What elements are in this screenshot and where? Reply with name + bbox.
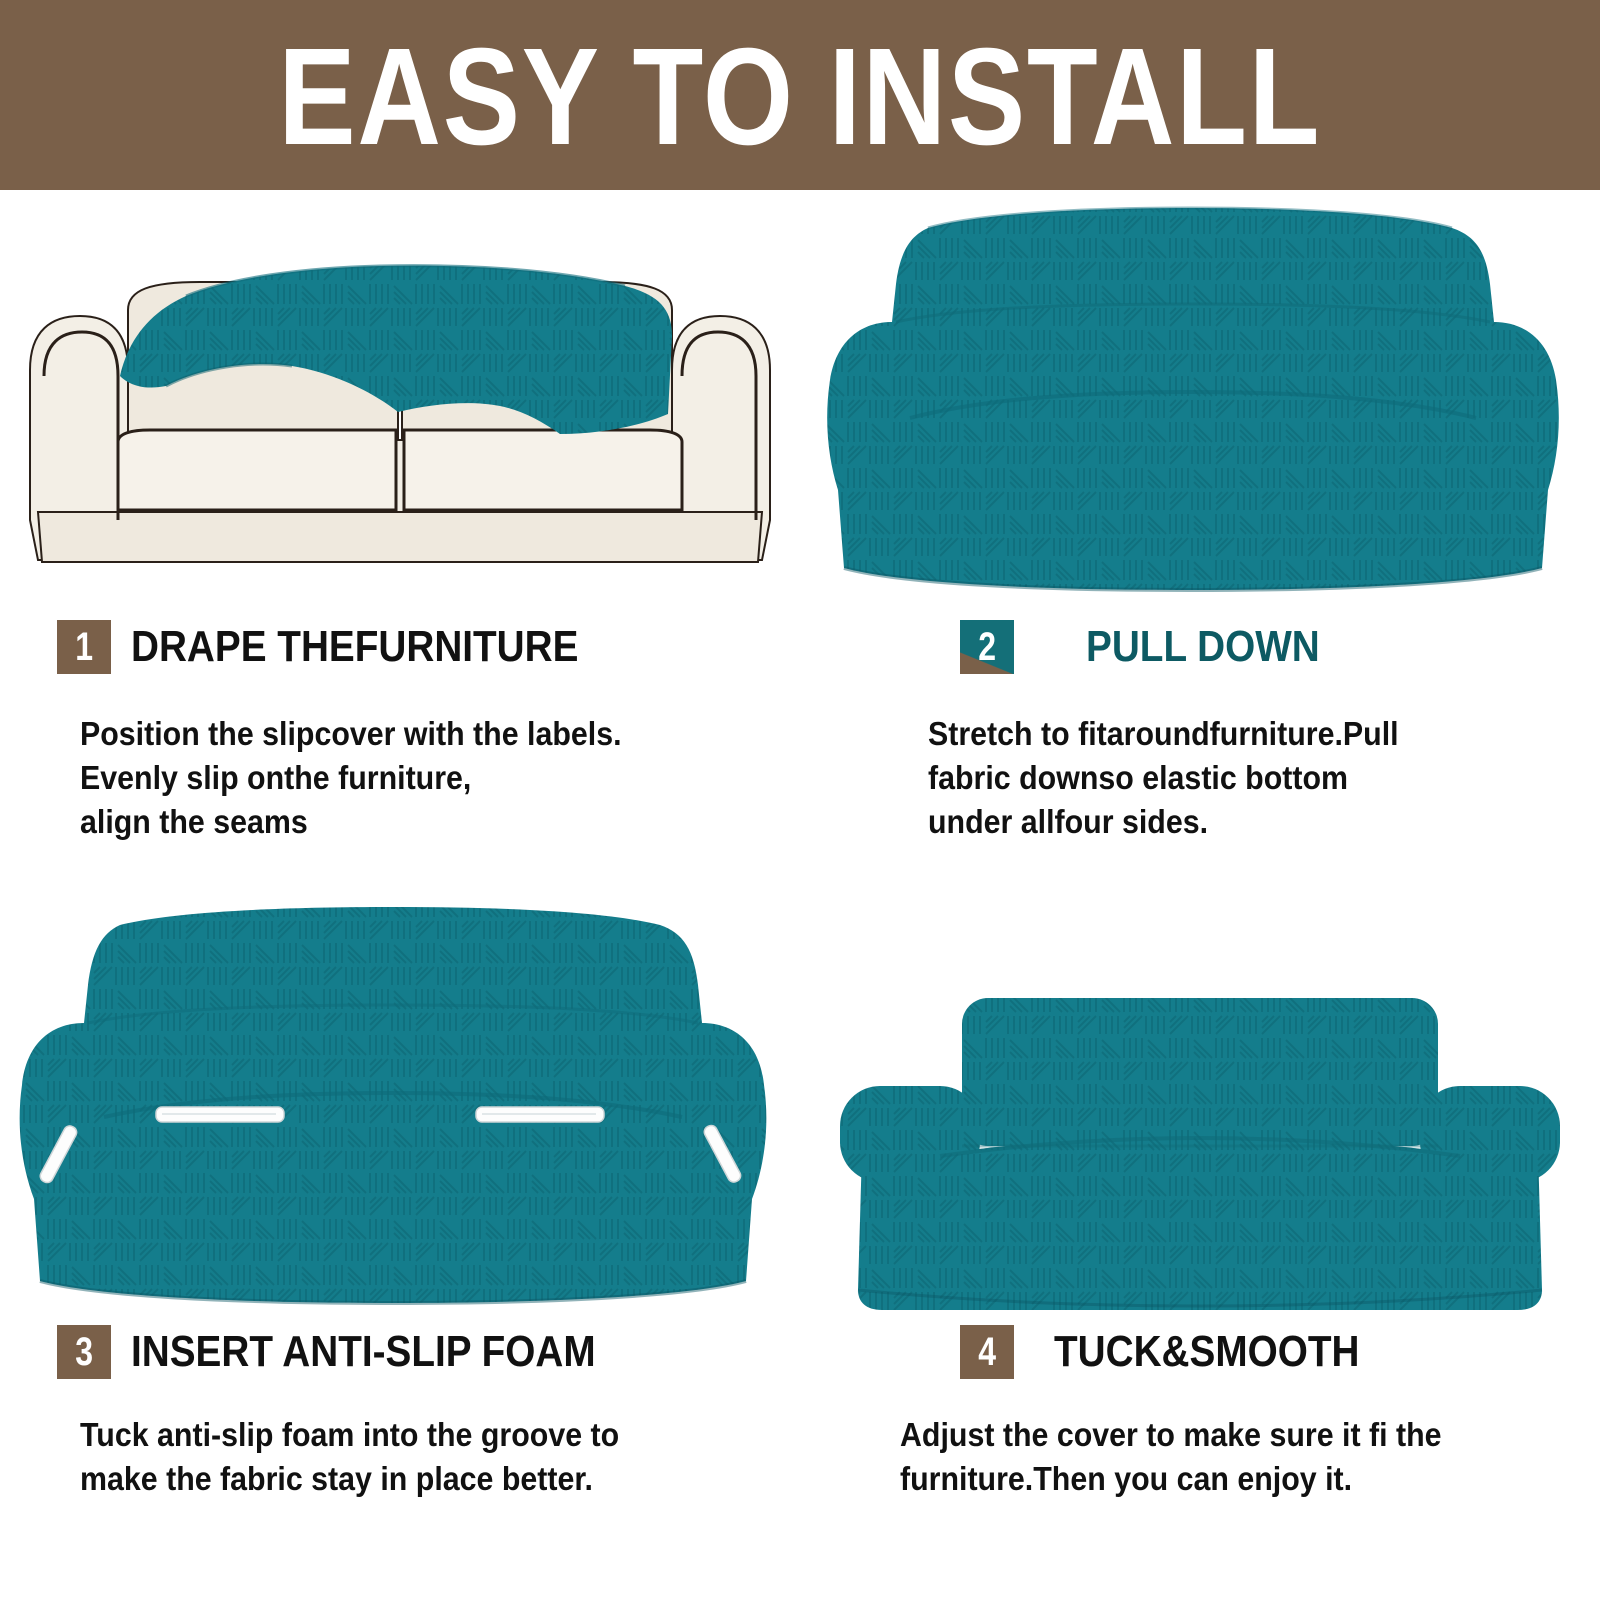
- sofa-tucked-illustration: [800, 990, 1600, 1320]
- install-instructions-page: EASY TO INSTALL: [0, 0, 1600, 1600]
- backrest: [962, 998, 1438, 1146]
- step-2-illustration: [800, 190, 1600, 610]
- step-2-badge: 2: [960, 620, 1014, 674]
- step-3-number: 3: [75, 1330, 93, 1375]
- step-4-badge: 4: [960, 1325, 1014, 1379]
- header-banner: EASY TO INSTALL: [0, 0, 1600, 190]
- foam-strip-right-inner: [476, 1107, 604, 1122]
- sofa-covered-illustration: [800, 190, 1600, 610]
- step-1-caption: 1 DRAPE THEFURNITURE Position the slipco…: [0, 620, 800, 844]
- sofa-cover-body: [827, 208, 1559, 590]
- sofa-cover-body: [20, 907, 767, 1303]
- sofa-draped-illustration: [0, 190, 800, 610]
- step-1-number: 1: [75, 625, 93, 670]
- step-2-heading: 2 PULL DOWN: [960, 620, 1600, 674]
- step-1-body: Position the slipcover with the labels. …: [80, 712, 742, 844]
- page-title: EASY TO INSTALL: [279, 28, 1322, 166]
- step-3-title: INSERT ANTI-SLIP FOAM: [131, 1330, 596, 1374]
- step-2-caption: 2 PULL DOWN Stretch to fitaroundfurnitur…: [800, 620, 1600, 844]
- step-1-badge: 1: [57, 620, 111, 674]
- step-card-2: 2 PULL DOWN Stretch to fitaroundfurnitur…: [800, 190, 1600, 895]
- step-4-caption: 4 TUCK&SMOOTH Adjust the cover to make s…: [800, 1325, 1600, 1501]
- step-1-illustration: [0, 190, 800, 610]
- seat-cushion-left: [118, 430, 396, 510]
- step-4-heading: 4 TUCK&SMOOTH: [960, 1325, 1600, 1379]
- step-2-body: Stretch to fitaroundfurniture.Pull fabri…: [928, 712, 1546, 844]
- step-3-illustration: [0, 895, 800, 1315]
- seat-cushion-right: [404, 430, 682, 510]
- step-2-title: PULL DOWN: [1086, 625, 1320, 669]
- step-1-title: DRAPE THEFURNITURE: [131, 625, 578, 669]
- step-4-number: 4: [978, 1330, 996, 1375]
- step-4-body: Adjust the cover to make sure it fi the …: [900, 1413, 1544, 1501]
- step-card-4: 4 TUCK&SMOOTH Adjust the cover to make s…: [800, 895, 1600, 1600]
- step-3-badge: 3: [57, 1325, 111, 1379]
- step-3-body: Tuck anti-slip foam into the groove to m…: [80, 1413, 742, 1501]
- steps-grid: 1 DRAPE THEFURNITURE Position the slipco…: [0, 190, 1600, 1600]
- step-2-number: 2: [978, 625, 996, 670]
- step-1-heading: 1 DRAPE THEFURNITURE: [57, 620, 800, 674]
- sofa-foam-illustration: [0, 895, 800, 1315]
- foam-strip-left-inner: [156, 1107, 284, 1122]
- step-card-3: 3 INSERT ANTI-SLIP FOAM Tuck anti-slip f…: [0, 895, 800, 1600]
- step-3-caption: 3 INSERT ANTI-SLIP FOAM Tuck anti-slip f…: [0, 1325, 800, 1501]
- step-card-1: 1 DRAPE THEFURNITURE Position the slipco…: [0, 190, 800, 895]
- step-3-heading: 3 INSERT ANTI-SLIP FOAM: [57, 1325, 800, 1379]
- sofa-skirt: [38, 512, 762, 562]
- step-4-title: TUCK&SMOOTH: [1054, 1330, 1359, 1374]
